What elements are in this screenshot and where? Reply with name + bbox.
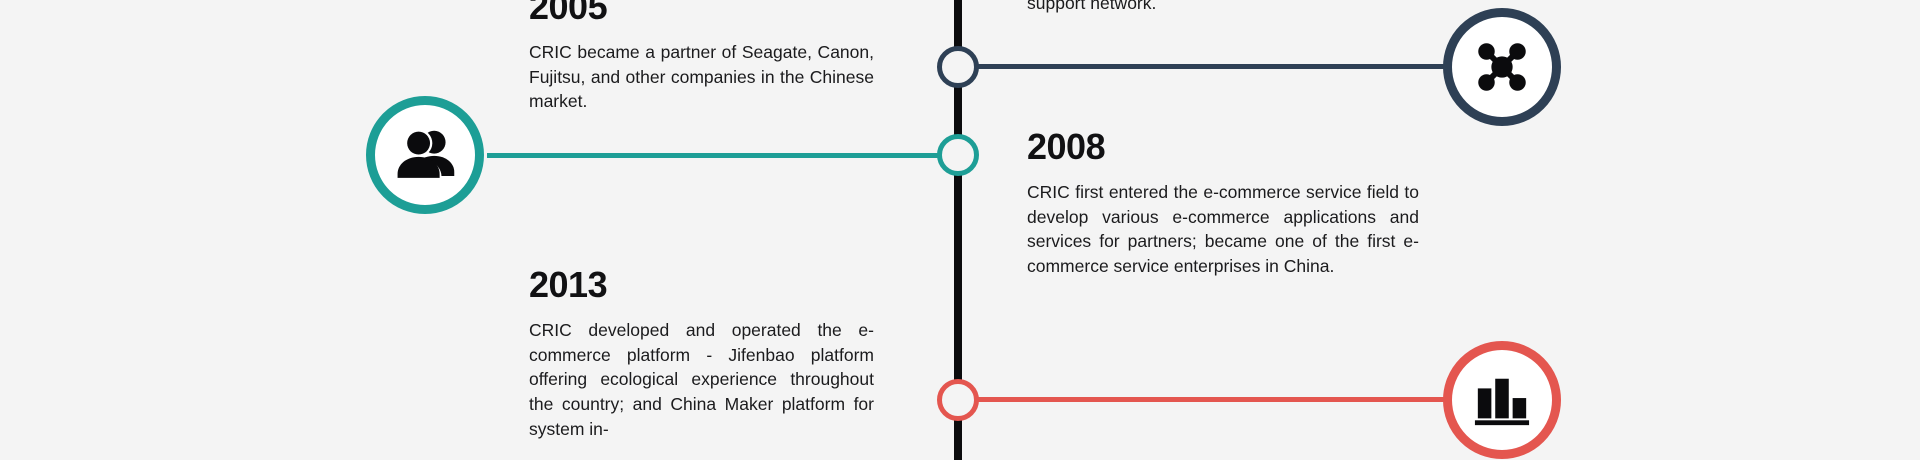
connector-2005 [487, 153, 957, 158]
connector-2008 [962, 397, 1484, 402]
entry-2008: 2008 CRIC first entered the e-commerce s… [1027, 128, 1419, 279]
entry-2013-year: 2013 [529, 266, 874, 304]
bar-chart-icon [1472, 371, 1532, 429]
spine-node-2005[interactable] [937, 134, 979, 176]
entry-2013-body: CRIC developed and operated the e-commer… [529, 318, 874, 442]
users-icon [393, 127, 457, 183]
spine-node-2008[interactable] [937, 379, 979, 421]
entry-2013: 2013 CRIC developed and operated the e-c… [529, 266, 874, 442]
timeline-infographic: acquisition network and national retail … [0, 0, 1920, 460]
medallion-2005[interactable] [366, 96, 484, 214]
spine-node-top-right[interactable] [937, 46, 979, 88]
entry-top-right: acquisition network and national retail … [1027, 0, 1419, 16]
entry-2005: 2005 CRIC became a partner of Seagate, C… [529, 0, 874, 114]
medallion-top-right[interactable] [1443, 8, 1561, 126]
entry-top-right-body: acquisition network and national retail … [1027, 0, 1419, 16]
medallion-2008[interactable] [1443, 341, 1561, 459]
entry-2008-year: 2008 [1027, 128, 1419, 166]
entry-2005-body: CRIC became a partner of Seagate, Canon,… [529, 40, 874, 115]
entry-2008-body: CRIC first entered the e-commerce servic… [1027, 180, 1419, 279]
entry-2005-year: 2005 [529, 0, 874, 26]
network-hub-icon [1471, 36, 1533, 98]
connector-top-right [962, 64, 1484, 69]
